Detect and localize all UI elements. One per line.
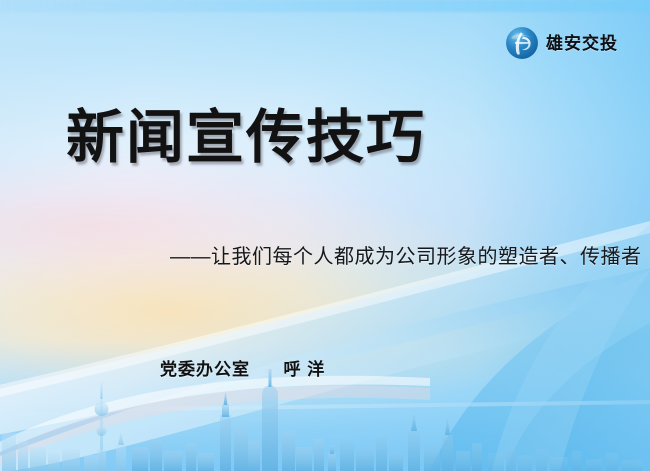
xiongan-jiaotou-circular-logo-icon [505, 26, 539, 60]
company-name-label: 雄安交投 [546, 35, 618, 52]
company-logo: 雄安交投 [505, 26, 618, 60]
presenter-department: 党委办公室 [160, 360, 250, 379]
presenter-line: 党委办公室 呼 洋 [160, 355, 325, 380]
slide-subtitle: ——让我们每个人都成为公司形象的塑造者、传播者 [170, 240, 642, 269]
slide-title: 新闻宣传技巧 [66, 108, 426, 169]
title-slide: 雄安交投 新闻宣传技巧 ——让我们每个人都成为公司形象的塑造者、传播者 党委办公… [0, 0, 650, 471]
presenter-name: 呼 洋 [283, 360, 325, 379]
